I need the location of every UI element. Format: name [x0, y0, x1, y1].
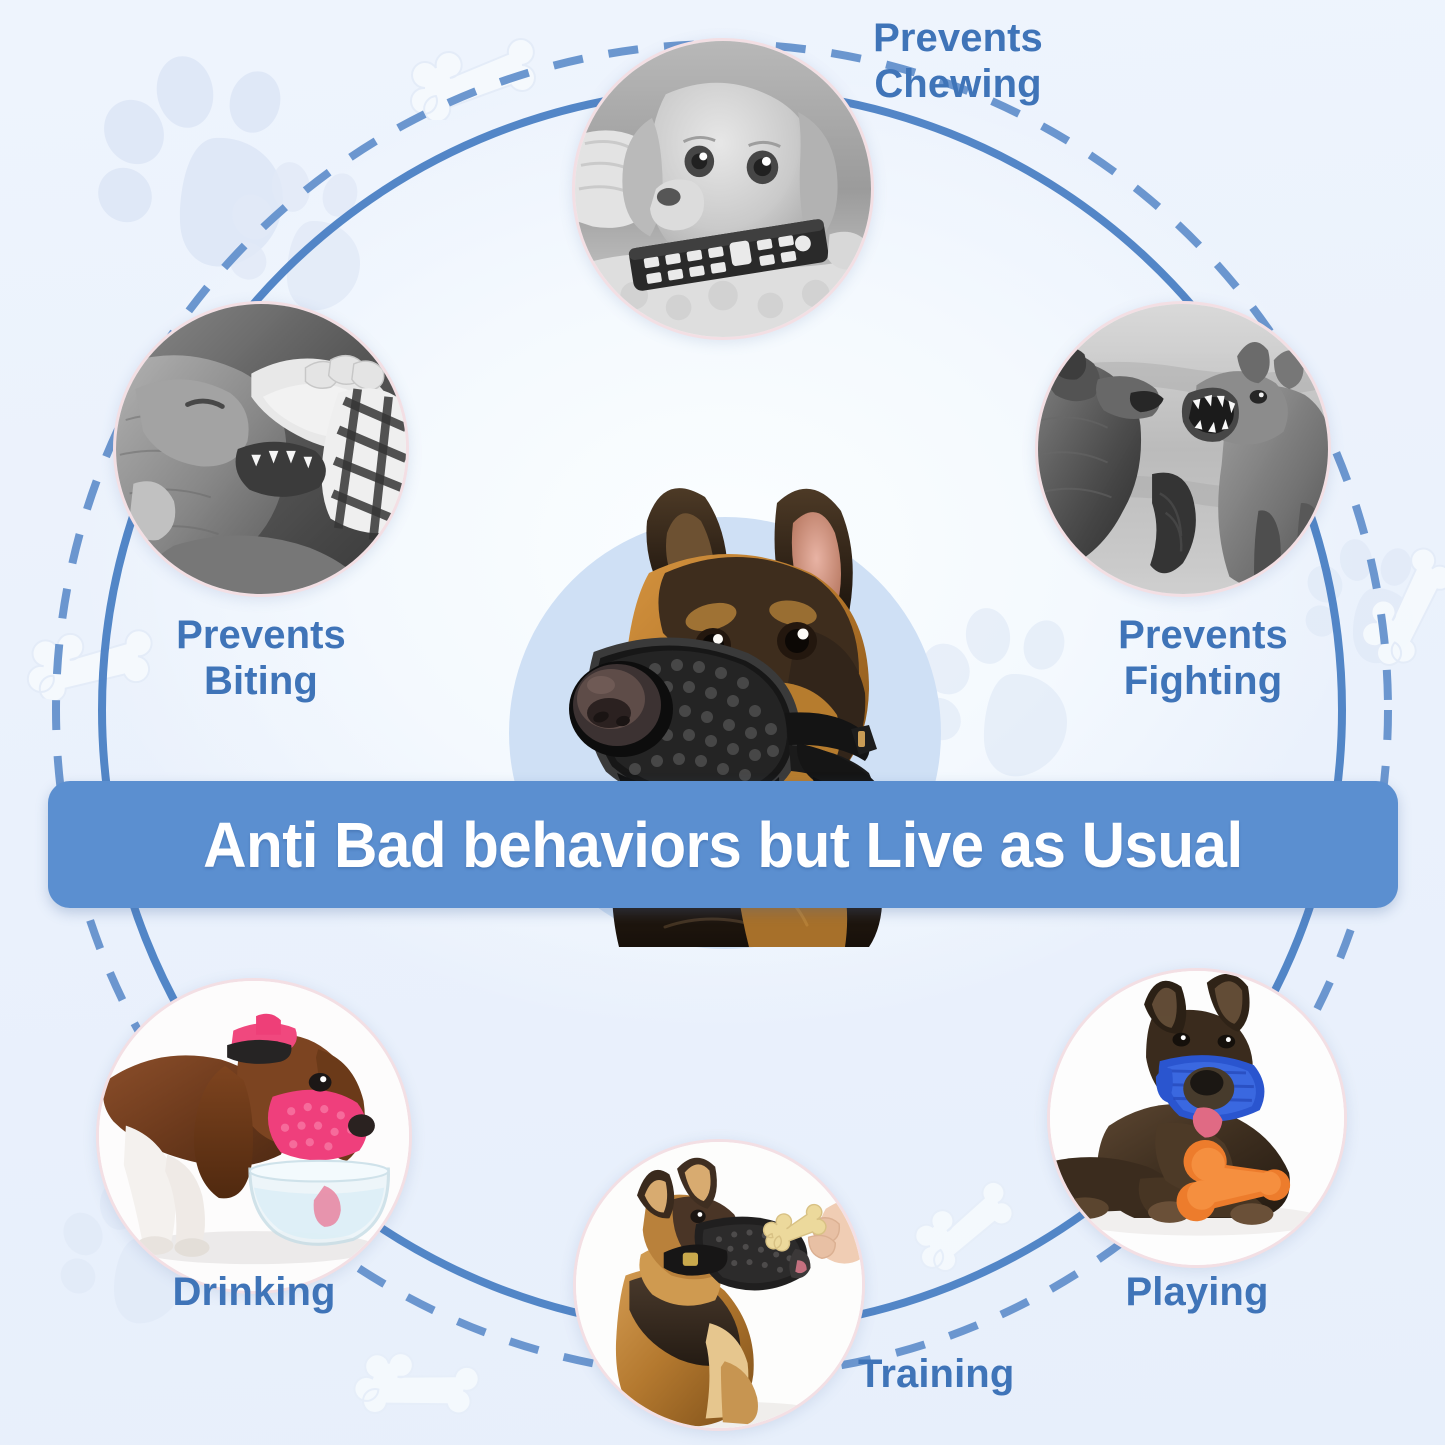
feature-label-playing: Playing — [1047, 1270, 1347, 1316]
headline-banner: Anti Bad behaviors but Live as Usual — [48, 781, 1398, 908]
feature-bubble-drinking[interactable] — [96, 978, 412, 1294]
dogs-fighting-image — [1038, 304, 1328, 594]
dog-biting-arm-image — [116, 304, 406, 594]
feature-label-prevents-chewing: Prevents Chewing — [808, 16, 1108, 107]
headline-text: Anti Bad behaviors but Live as Usual — [203, 808, 1242, 882]
malinois-playing-image — [1050, 971, 1344, 1265]
feature-label-prevents-biting: Prevents Biting — [111, 613, 411, 704]
feature-label-drinking: Drinking — [104, 1270, 404, 1316]
feature-bubble-prevents-biting[interactable] — [113, 301, 409, 597]
feature-label-prevents-fighting: Prevents Fighting — [1053, 613, 1353, 704]
feature-bubble-prevents-fighting[interactable] — [1035, 301, 1331, 597]
feature-label-training: Training — [716, 1352, 1156, 1398]
feature-bubble-playing[interactable] — [1047, 968, 1347, 1268]
beagle-drinking-image — [99, 981, 409, 1291]
